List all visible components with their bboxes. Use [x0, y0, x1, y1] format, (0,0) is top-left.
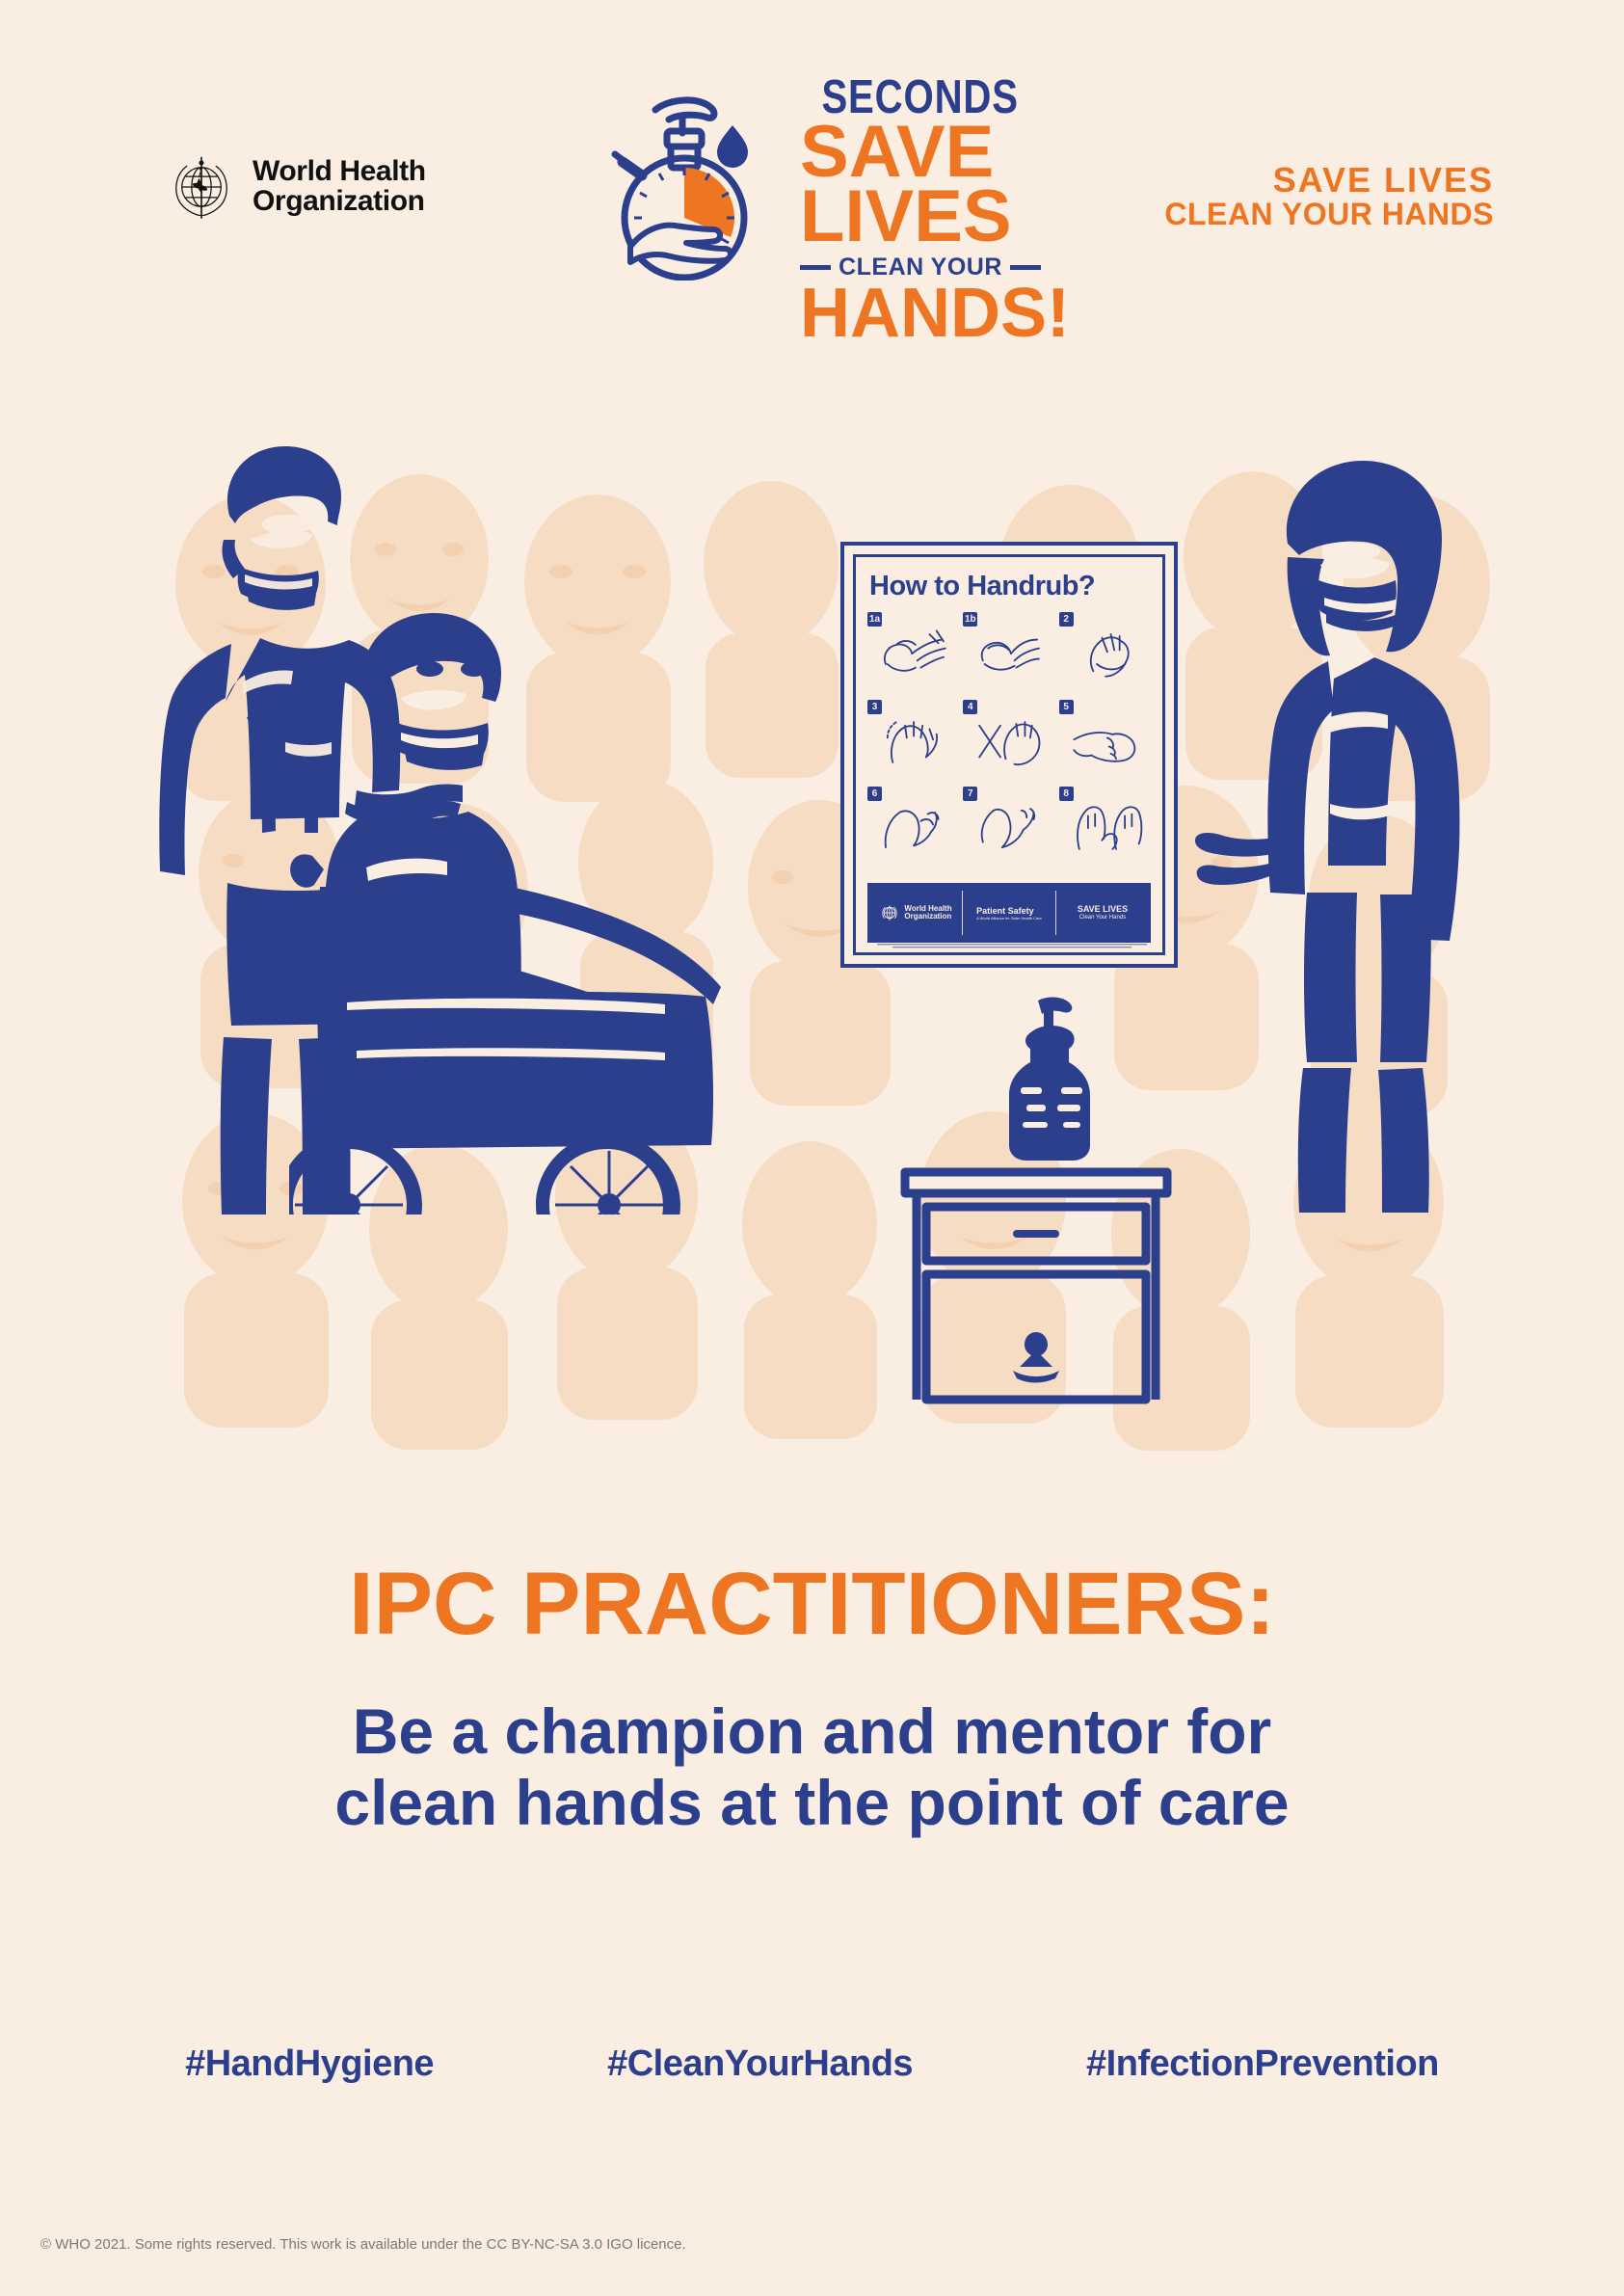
- illustration: How to Handrub? 1a: [0, 289, 1624, 1533]
- handrub-footer-who-text: World Health Organization: [904, 905, 951, 921]
- handrub-step-number: 6: [867, 787, 882, 801]
- tagline-clean-your-hands: CLEAN YOUR HANDS: [1164, 199, 1494, 231]
- who-logo-text: World Health Organization: [253, 157, 426, 217]
- who-logo: World Health Organization: [164, 149, 426, 225]
- handrub-step: 6: [867, 787, 959, 870]
- patient-in-wheelchair: [289, 598, 771, 1215]
- stopwatch-sanitizer-dispenser-icon: [586, 83, 793, 280]
- handrub-step: 4: [963, 700, 1054, 784]
- palm-over-dorsum-icon: [875, 713, 954, 771]
- handrub-step: 5: [1059, 700, 1151, 784]
- handrub-step-number: 4: [963, 700, 977, 714]
- handrub-step-number: 2: [1059, 612, 1074, 627]
- copyright-notice: © WHO 2021. Some rights reserved. This w…: [40, 2236, 686, 2253]
- page-subtitle-line2: clean hands at the point of care: [0, 1768, 1624, 1839]
- handrub-step-number: 1a: [867, 612, 882, 627]
- apply-handrub-palm-icon: [875, 626, 954, 683]
- handrub-step-number: 8: [1059, 787, 1074, 801]
- handrub-step: 7: [963, 787, 1054, 870]
- campaign-rule-right: [1010, 265, 1041, 270]
- campaign-tagline: SAVE LIVES CLEAN YOUR HANDS: [1164, 162, 1494, 230]
- handrub-footer-save-lives: SAVE LIVES Clean Your Hands: [1062, 904, 1143, 921]
- handrub-dispenser: [1009, 998, 1090, 1161]
- handrub-footer-save-lives-label: SAVE LIVES: [1078, 904, 1128, 914]
- handrub-footer-who: World Health Organization: [875, 902, 956, 923]
- campaign-lives: LIVES: [800, 185, 1041, 250]
- who-logo-line2: Organization: [253, 187, 426, 217]
- who-emblem-icon: [879, 902, 900, 923]
- poster: World Health Organization: [0, 0, 1624, 2296]
- rub-palm-to-palm-icon: [1067, 626, 1146, 683]
- campaign-seconds: SECONDS: [821, 75, 1018, 120]
- handrub-step: 2: [1059, 612, 1151, 696]
- handrub-step: 3: [867, 700, 959, 784]
- rotational-rub-fingertips-icon: [971, 800, 1050, 858]
- handrub-footer-patient-safety: Patient Safety A World Alliance for Safe…: [969, 906, 1050, 921]
- page-title: IPC PRACTITIONERS:: [0, 1560, 1624, 1648]
- hands-are-safe-icon: [1067, 800, 1146, 858]
- tagline-save-lives: SAVE LIVES: [1164, 162, 1494, 199]
- hashtag-row: #HandHygiene #CleanYourHands #InfectionP…: [0, 2043, 1624, 2085]
- handrub-step: 8: [1059, 787, 1151, 870]
- rotational-rub-thumb-icon: [875, 800, 954, 858]
- handrub-step-number: 7: [963, 787, 977, 801]
- handrub-step: 1b: [963, 612, 1054, 696]
- handrub-footer-who-line2: Organization: [904, 913, 951, 921]
- how-to-handrub-poster: How to Handrub? 1a: [840, 542, 1178, 968]
- fingers-interlaced-icon: [971, 713, 1050, 771]
- campaign-rule-left: [800, 265, 831, 270]
- bedside-table: [892, 993, 1181, 1407]
- handrub-poster-footer: World Health Organization Patient Safety…: [867, 883, 1151, 943]
- cover-all-surfaces-icon: [971, 626, 1050, 683]
- handrub-step-grid: 1a 1b: [867, 612, 1151, 870]
- handrub-step-number: 5: [1059, 700, 1074, 714]
- handrub-footer-divider-2: [1055, 891, 1056, 935]
- hashtag-infection-prevention[interactable]: #InfectionPrevention: [1086, 2043, 1439, 2085]
- handrub-step: 1a: [867, 612, 959, 696]
- campaign-logo: SECONDS SAVE LIVES CLEAN YOUR HANDS!: [586, 75, 1039, 287]
- handrub-footer-patient-safety-label: Patient Safety: [976, 906, 1034, 916]
- handrub-footer-divider-1: [962, 891, 963, 935]
- hashtag-clean-your-hands[interactable]: #CleanYourHands: [607, 2043, 913, 2085]
- handrub-footer-clean-your-hands: Clean Your Hands: [1078, 915, 1128, 921]
- poster-header: World Health Organization: [0, 0, 1624, 289]
- backs-of-fingers-icon: [1067, 713, 1146, 771]
- handrub-poster-inner: How to Handrub? 1a: [853, 554, 1165, 955]
- handrub-step-number: 3: [867, 700, 882, 714]
- hashtag-hand-hygiene[interactable]: #HandHygiene: [185, 2043, 434, 2085]
- handrub-poster-legal-text: [867, 943, 1157, 949]
- page-subtitle: Be a champion and mentor for clean hands…: [0, 1696, 1624, 1839]
- female-clinician: [1195, 443, 1542, 1215]
- handrub-step-number: 1b: [963, 612, 977, 627]
- who-logo-line1: World Health: [253, 157, 426, 187]
- page-subtitle-line1: Be a champion and mentor for: [0, 1696, 1624, 1768]
- who-emblem-icon: [164, 149, 239, 225]
- handrub-poster-title: How to Handrub?: [869, 571, 1151, 602]
- handrub-footer-patient-safety-sub: A World Alliance for Safer Health Care: [976, 916, 1042, 921]
